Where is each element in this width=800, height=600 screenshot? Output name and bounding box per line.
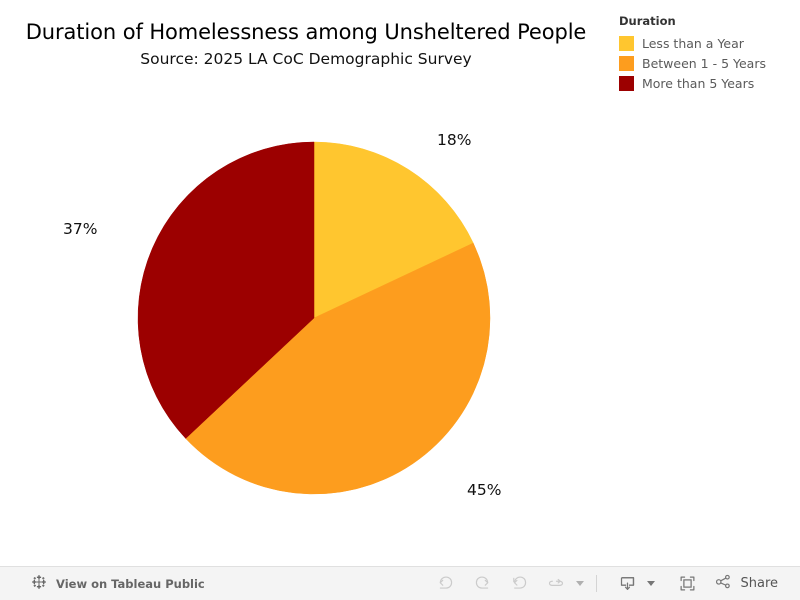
refresh-button[interactable]: [538, 569, 575, 599]
viz-canvas: Duration of Homelessness among Unshelter…: [0, 0, 800, 566]
slice-label-more-than-5-years: 37%: [63, 220, 97, 238]
redo-icon: [473, 574, 492, 593]
refresh-icon: [547, 574, 566, 593]
legend: Duration Less than a Year Between 1 - 5 …: [619, 14, 794, 93]
slice-label-less-than-a-year: 18%: [437, 131, 471, 149]
legend-item-more-than-5-years[interactable]: More than 5 Years: [619, 73, 794, 93]
download-dropdown-chevron-down-icon[interactable]: [647, 581, 655, 586]
revert-button[interactable]: [501, 569, 538, 599]
legend-item-label: Between 1 - 5 Years: [642, 56, 766, 71]
refresh-dropdown-chevron-down-icon[interactable]: [576, 581, 584, 586]
legend-title: Duration: [619, 14, 794, 28]
toolbar-controls: Share: [427, 569, 784, 599]
download-button[interactable]: [609, 569, 646, 599]
legend-item-less-than-a-year[interactable]: Less than a Year: [619, 33, 794, 53]
legend-item-between-1-5-years[interactable]: Between 1 - 5 Years: [619, 53, 794, 73]
tableau-logo-icon: [31, 574, 47, 594]
view-on-tableau-public-link[interactable]: View on Tableau Public: [31, 574, 205, 594]
legend-swatch-icon: [619, 76, 634, 91]
legend-swatch-icon: [619, 36, 634, 51]
pie-slice-group: [138, 142, 490, 494]
fullscreen-button[interactable]: [669, 569, 706, 599]
undo-icon: [436, 574, 455, 593]
share-button[interactable]: Share: [706, 572, 784, 595]
revert-icon: [510, 574, 529, 593]
redo-button[interactable]: [464, 569, 501, 599]
legend-item-label: Less than a Year: [642, 36, 744, 51]
pie-chart: 18% 45% 37%: [0, 0, 612, 566]
share-icon: [714, 572, 733, 595]
share-label: Share: [740, 576, 778, 592]
download-icon: [618, 574, 637, 593]
slice-label-between-1-5-years: 45%: [467, 481, 501, 499]
tableau-toolbar: View on Tableau Public: [0, 566, 800, 600]
pie-svg: [0, 0, 612, 566]
view-on-tableau-public-label: View on Tableau Public: [56, 577, 205, 591]
fullscreen-icon: [678, 574, 697, 593]
legend-item-label: More than 5 Years: [642, 76, 754, 91]
legend-swatch-icon: [619, 56, 634, 71]
undo-button[interactable]: [427, 569, 464, 599]
toolbar-divider: [596, 575, 597, 592]
